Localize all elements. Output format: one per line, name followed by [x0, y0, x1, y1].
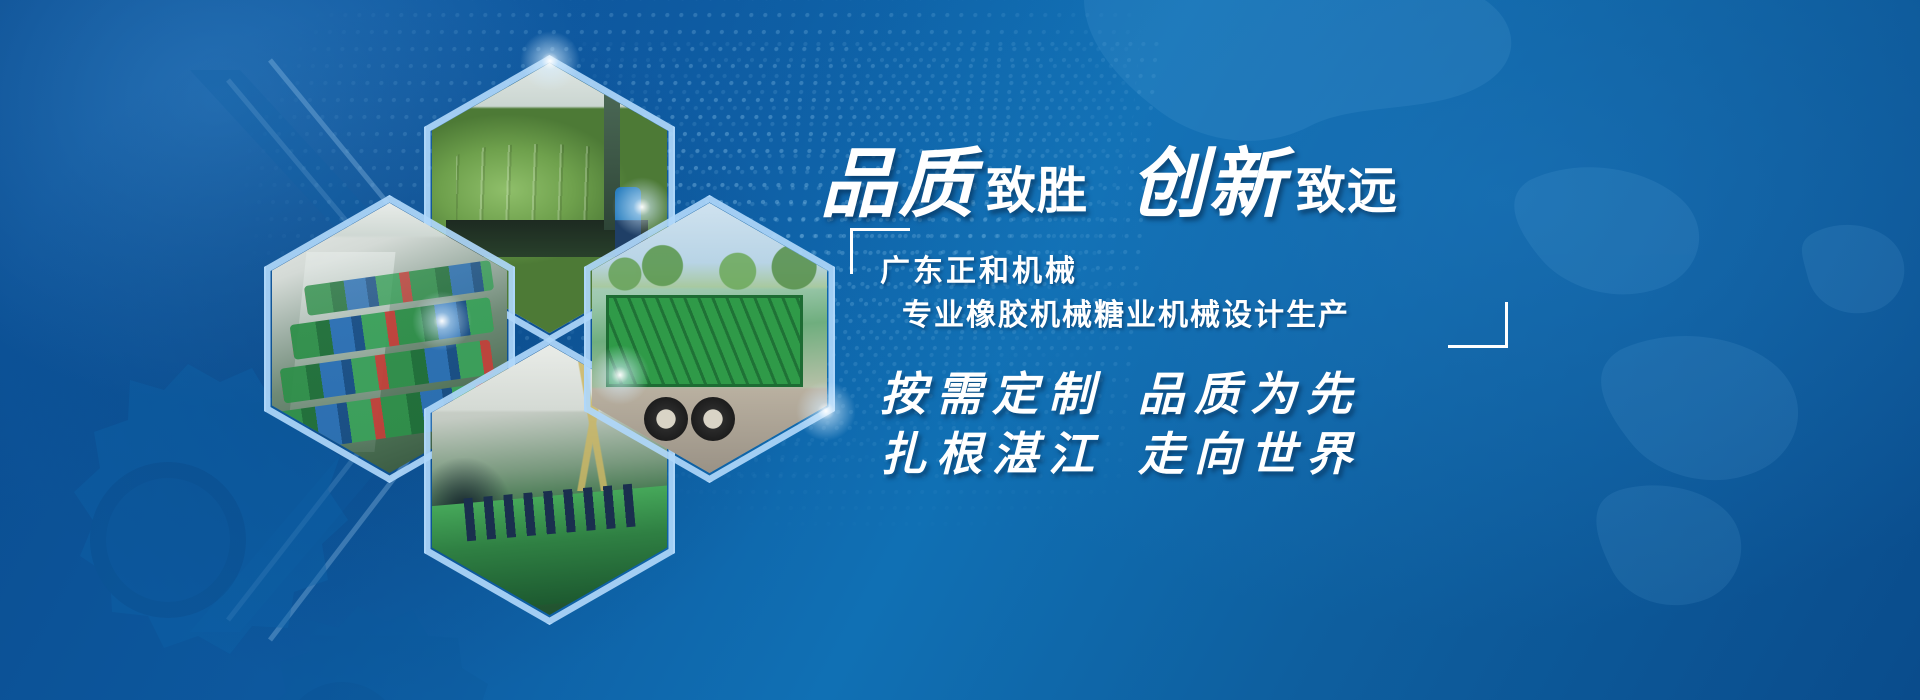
hexagon-photo-cluster	[230, 55, 850, 525]
company-descriptor: 广东正和机械 专业橡胶机械糖业机械设计生产	[850, 228, 1490, 340]
slogan-1-right: 品质为先	[1138, 369, 1362, 420]
bracket-bottom-right-icon	[1448, 302, 1508, 348]
promo-banner: 品质致胜创新致远 广东正和机械 专业橡胶机械糖业机械设计生产 按需定制品质为先 …	[0, 0, 1920, 700]
trailer-body	[606, 295, 803, 387]
slogan-line-1: 按需定制品质为先	[880, 358, 1362, 424]
trailer-wheel	[691, 397, 735, 441]
headline-part1-emphasis: 品质	[820, 143, 976, 227]
slogan-1-left: 按需定制	[880, 369, 1104, 420]
slogan-2-left: 扎根湛江	[880, 429, 1104, 480]
slogan-line-2: 扎根湛江走向世界	[880, 418, 1362, 484]
company-business-scope: 专业橡胶机械糖业机械设计生产	[902, 290, 1350, 334]
headline-part2-emphasis: 创新	[1130, 143, 1286, 227]
banner-copy-block: 品质致胜创新致远 广东正和机械 专业橡胶机械糖业机械设计生产 按需定制品质为先 …	[820, 0, 1920, 700]
trailer-wheel	[644, 397, 688, 441]
headline-part1-sub: 致胜	[986, 163, 1088, 219]
slogan-2-right: 走向世界	[1138, 429, 1362, 480]
headline-part2-sub: 致远	[1296, 163, 1398, 219]
headline: 品质致胜创新致远	[820, 122, 1398, 232]
company-name: 广东正和机械	[880, 246, 1078, 290]
